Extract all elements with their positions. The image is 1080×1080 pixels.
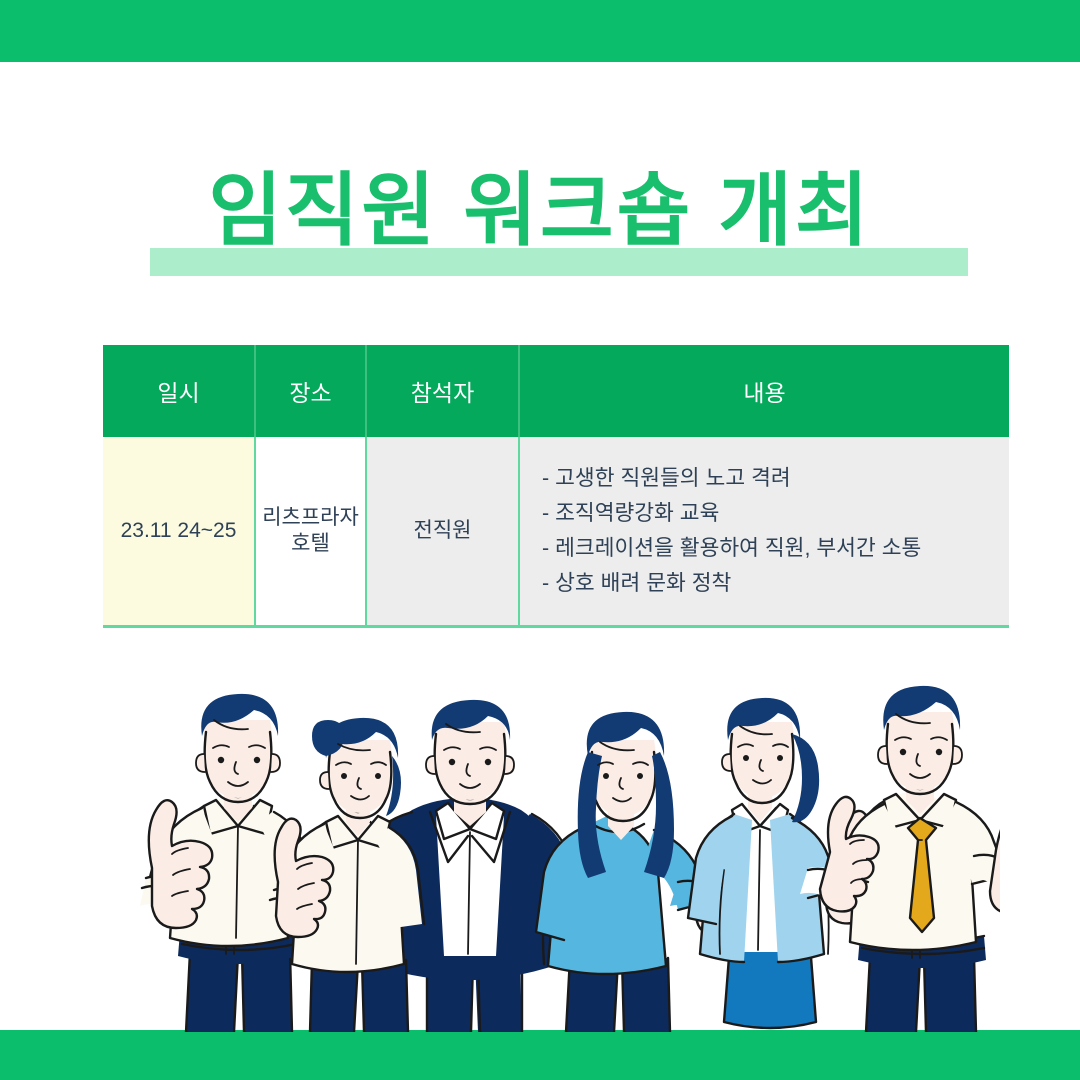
table-cell-attendees: 전직원: [367, 437, 520, 625]
event-info-table: 일시 장소 참석자 내용 23.11 24~25 리츠프라자 호텔 전직원 - …: [103, 345, 1009, 628]
content-bullet-list: - 고생한 직원들의 노고 격려 - 조직역량강화 교육 - 레크레이션을 활용…: [542, 461, 921, 600]
poster-canvas: 임직원 워크숍 개최 일시 장소 참석자 내용 23.11 24~25 리츠프라…: [0, 0, 1080, 1080]
table-header-date: 일시: [103, 345, 256, 437]
table-cell-place: 리츠프라자 호텔: [256, 437, 367, 625]
person-6-gold-tie: [820, 686, 1000, 1032]
table-cell-content: - 고생한 직원들의 노고 격려 - 조직역량강화 교육 - 레크레이션을 활용…: [520, 437, 1009, 625]
content-bullet-3: - 레크레이션을 활용하여 직원, 부서간 소통: [542, 531, 921, 566]
table-header-attendees: 참석자: [367, 345, 520, 437]
table-header-content: 내용: [520, 345, 1009, 437]
six-people-thumbs-up-illustration: .ln { fill:none; stroke:#1A1A1A; stroke-…: [130, 660, 1000, 1032]
content-bullet-1: - 고생한 직원들의 노고 격려: [542, 461, 921, 496]
table-row: 23.11 24~25 리츠프라자 호텔 전직원 - 고생한 직원들의 노고 격…: [103, 437, 1009, 625]
page-title: 임직원 워크숍 개최: [0, 155, 1080, 267]
top-green-band: [0, 0, 1080, 62]
table-header-place: 장소: [256, 345, 367, 437]
table-cell-place-line1: 리츠프라자: [262, 506, 359, 529]
table-cell-place-line2: 호텔: [291, 532, 330, 555]
bottom-green-band: [0, 1030, 1080, 1080]
table-header-row: 일시 장소 참석자 내용: [103, 345, 1009, 437]
table-cell-date: 23.11 24~25: [103, 437, 256, 625]
content-bullet-2: - 조직역량강화 교육: [542, 496, 921, 531]
title-block: 임직원 워크숍 개최: [0, 155, 1080, 285]
content-bullet-4: - 상호 배려 문화 정착: [542, 566, 921, 601]
illustration-figures: [140, 686, 1000, 1032]
